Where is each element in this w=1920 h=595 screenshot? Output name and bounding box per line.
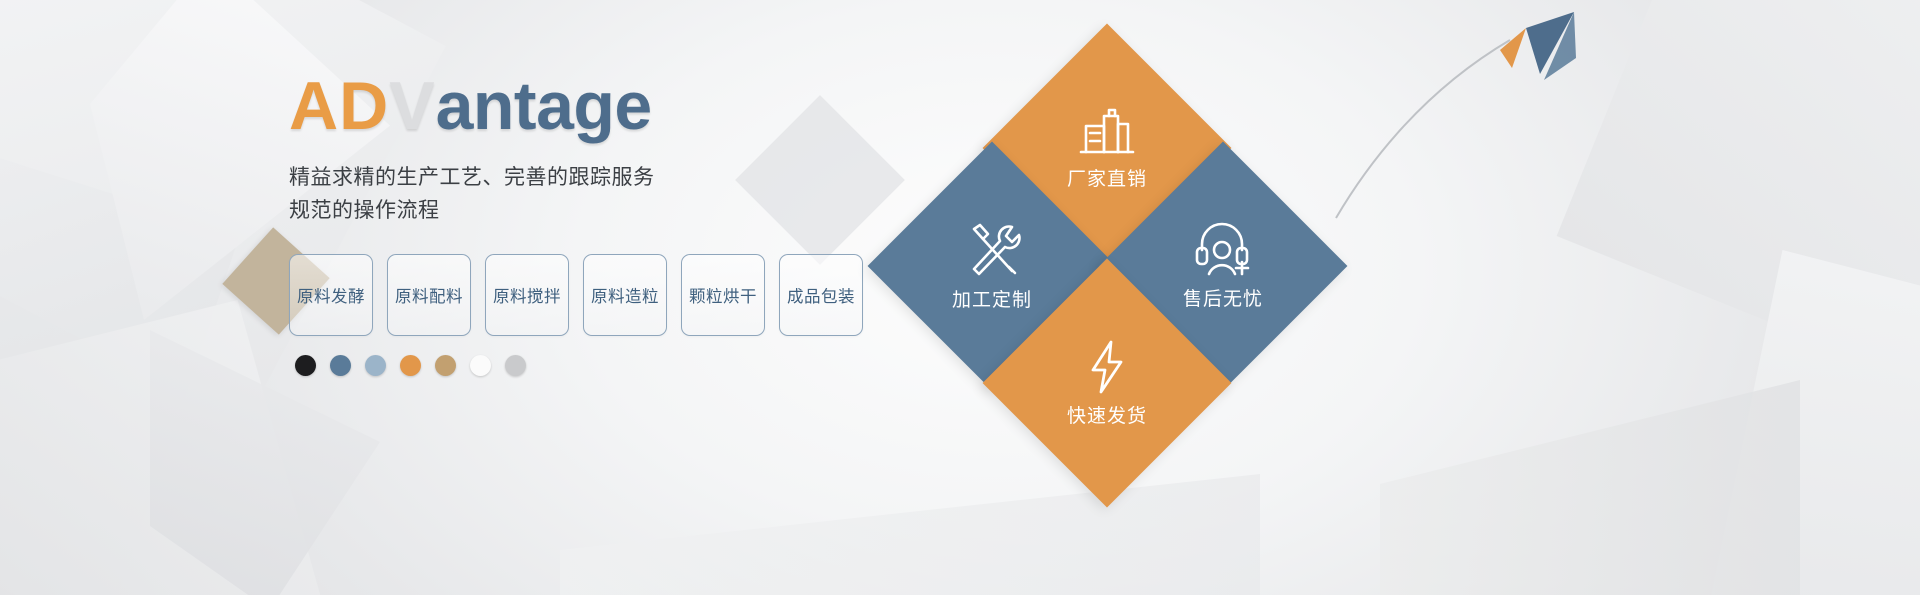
headset-support-icon xyxy=(1192,222,1254,278)
color-swatch-list xyxy=(289,355,889,376)
process-step-list: 原料发酵 原料配料 原料搅拌 原料造粒 颗粒烘干 成品包装 xyxy=(289,254,889,336)
lightning-bolt-icon xyxy=(1085,339,1129,395)
headline-part-gray: V xyxy=(389,68,435,144)
advantage-card-fast-shipping[interactable]: 快速发货 xyxy=(983,259,1232,508)
banner-left-content: ADVantage 精益求精的生产工艺、完善的跟踪服务 规范的操作流程 原料发酵… xyxy=(289,72,889,376)
banner-stage: ADVantage 精益求精的生产工艺、完善的跟踪服务 规范的操作流程 原料发酵… xyxy=(0,0,1920,595)
advantage-diamond-group: 厂家直销 加工定制 xyxy=(900,30,1320,430)
color-swatch-dot[interactable] xyxy=(365,355,386,376)
process-step-chip[interactable]: 原料搅拌 xyxy=(485,254,569,336)
process-step-chip[interactable]: 原料发酵 xyxy=(289,254,373,336)
process-step-label: 原料搅拌 xyxy=(493,283,561,307)
color-swatch-dot[interactable] xyxy=(330,355,351,376)
color-swatch-dot[interactable] xyxy=(295,355,316,376)
process-step-label: 原料发酵 xyxy=(297,283,365,307)
process-step-chip[interactable]: 颗粒烘干 xyxy=(681,254,765,336)
color-swatch-dot[interactable] xyxy=(505,355,526,376)
tools-icon xyxy=(960,221,1024,279)
process-step-label: 原料配料 xyxy=(395,283,463,307)
color-swatch-dot[interactable] xyxy=(435,355,456,376)
color-swatch-dot[interactable] xyxy=(470,355,491,376)
subtitle-line-2: 规范的操作流程 xyxy=(289,195,889,228)
headline-part-blue: antage xyxy=(436,68,652,144)
headline-part-orange: AD xyxy=(289,68,389,144)
process-step-label: 成品包装 xyxy=(787,283,855,307)
subtitle-line-1: 精益求精的生产工艺、完善的跟踪服务 xyxy=(289,162,889,195)
banner-subtitle: 精益求精的生产工艺、完善的跟踪服务 规范的操作流程 xyxy=(289,162,889,227)
factory-icon xyxy=(1076,106,1138,158)
page-title: ADVantage xyxy=(289,72,889,140)
process-step-label: 颗粒烘干 xyxy=(689,283,757,307)
process-step-label: 原料造粒 xyxy=(591,283,659,307)
advantage-label: 快速发货 xyxy=(1067,401,1147,428)
process-step-chip[interactable]: 原料造粒 xyxy=(583,254,667,336)
process-step-chip[interactable]: 成品包装 xyxy=(779,254,863,336)
process-step-chip[interactable]: 原料配料 xyxy=(387,254,471,336)
swoosh-arrow-decoration xyxy=(1330,10,1580,230)
bg-shape-9 xyxy=(1380,380,1800,595)
color-swatch-dot[interactable] xyxy=(400,355,421,376)
